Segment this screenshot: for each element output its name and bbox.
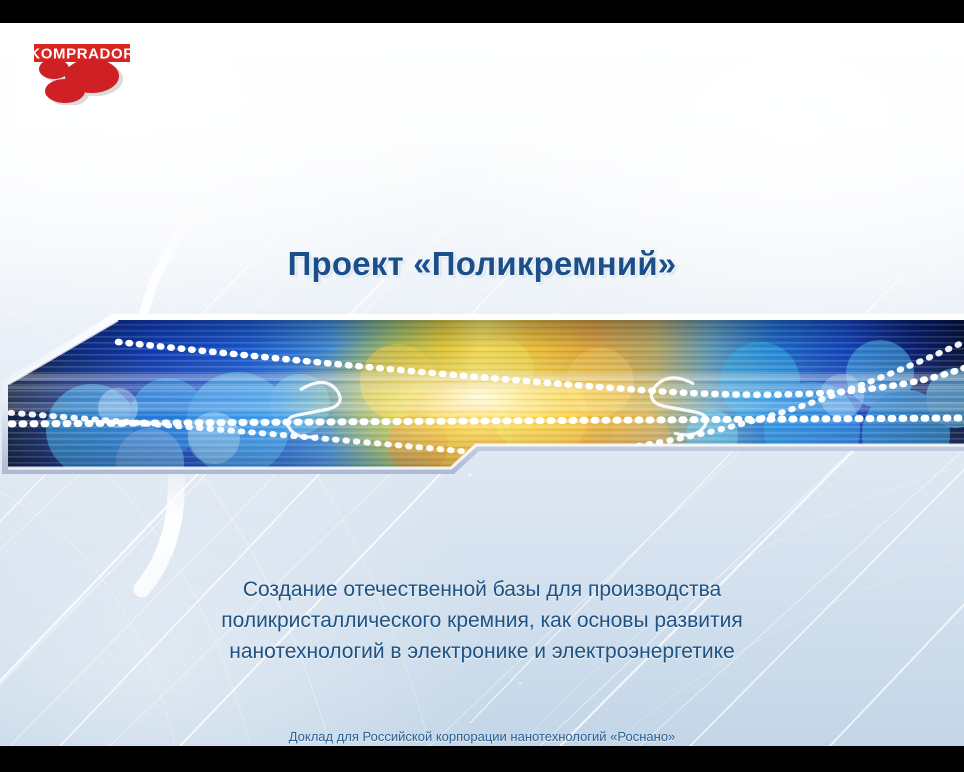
subtitle-line-1: Создание отечественной базы для производ… <box>0 574 964 605</box>
decorative-technology-band <box>0 312 964 478</box>
letterbox-bar-top <box>0 0 964 23</box>
page-title: Проект «Поликремний» <box>0 245 964 283</box>
slide-frame: KOMPRADOR Проект «Поликремний» <box>0 0 964 772</box>
subtitle-line-3: нанотехнологий в электронике и электроэн… <box>0 636 964 667</box>
komprador-logo: KOMPRADOR <box>18 32 138 105</box>
komprador-wordmark: KOMPRADOR <box>29 46 134 63</box>
subtitle: Создание отечественной базы для производ… <box>0 574 964 667</box>
footer-note: Доклад для Российской корпорации нанотех… <box>0 729 964 744</box>
slide-canvas: KOMPRADOR Проект «Поликремний» <box>0 23 964 746</box>
subtitle-line-2: поликристаллического кремния, как основы… <box>0 605 964 636</box>
letterbox-bar-bottom <box>0 746 964 772</box>
